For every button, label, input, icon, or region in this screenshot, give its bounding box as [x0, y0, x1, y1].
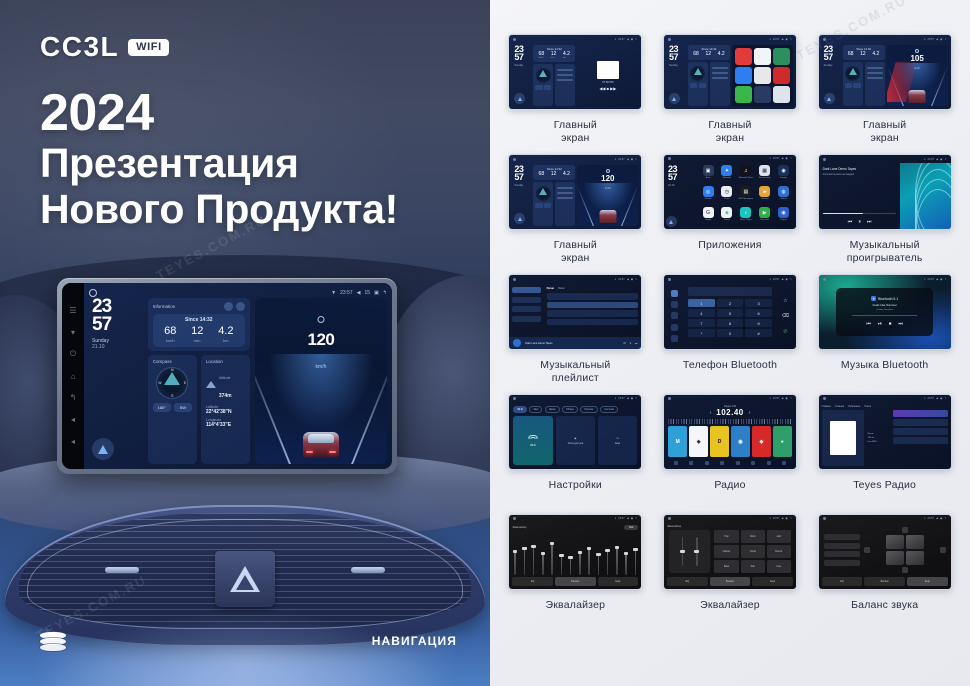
now-playing: Dark Lane Demo Tapes Хорошая музыка на к…	[819, 163, 901, 229]
tab-apps[interactable]: Прилож.	[580, 406, 597, 413]
list-item[interactable]	[547, 319, 639, 326]
next-station-icon[interactable]: ›	[749, 410, 751, 416]
eq-band[interactable]	[579, 551, 581, 575]
hud-icon	[915, 49, 919, 53]
sidebar-item-favorites	[512, 306, 540, 312]
card-wifi[interactable]: Wi-Fi	[513, 416, 552, 465]
tab-system[interactable]: Общие	[562, 406, 578, 413]
key-2[interactable]: 2	[717, 299, 744, 307]
tile-caption: Главныйэкран	[554, 119, 597, 145]
altitude-value: 374m	[219, 393, 232, 399]
preset-pop[interactable]: Pop	[714, 530, 738, 543]
key-1[interactable]: 1	[688, 299, 715, 307]
clock-date: 21.10	[92, 344, 144, 350]
radio-icon[interactable]: ◉	[778, 207, 789, 218]
tile-screenshot[interactable]: ▾23:57◀▣↰ Радио FM ‹ 102.40 › M ◈ D ◉ ◆	[663, 394, 797, 470]
list-item[interactable]	[893, 410, 948, 417]
expand-icon[interactable]	[236, 302, 245, 311]
navigation-button[interactable]	[514, 93, 525, 104]
tile-screenshot[interactable]: ▾23:57◀▣↰ 23 57 Sunday Since 14:32	[663, 34, 797, 110]
volume-down-icon[interactable]: ◂	[69, 415, 78, 424]
clock-minutes: 57	[92, 316, 144, 334]
compass-bearing-button[interactable]: 180°	[153, 403, 171, 412]
tab-more[interactable]: Ещё	[598, 577, 639, 586]
speed-widget[interactable]: 120 km/h	[255, 298, 387, 464]
balance-left-button[interactable]	[864, 547, 870, 553]
track-artist: Carbon Sunshine	[876, 309, 893, 311]
album-art	[513, 339, 521, 347]
album-art	[822, 410, 865, 466]
status-clock: 23:57	[340, 290, 353, 296]
playlist-sidebar[interactable]	[509, 283, 543, 337]
key-9[interactable]: 9	[745, 319, 772, 327]
balance-down-button[interactable]	[902, 567, 908, 573]
stat-distance: 4.2 km	[218, 326, 233, 343]
car-illustration	[599, 210, 616, 223]
speed-unit: km/h	[887, 67, 948, 70]
key-8[interactable]: 8	[717, 319, 744, 327]
eq-band[interactable]	[524, 547, 526, 575]
list-item[interactable]	[547, 293, 639, 300]
head-unit-hard-keys[interactable]: ☰ ▾ ⏻ ⌂ ↰ ◂ ◂	[62, 283, 84, 469]
previous-icon[interactable]: ⏮	[623, 342, 625, 345]
compass-widget[interactable]: Compass N E S W 180°	[148, 355, 197, 464]
settings-cards[interactable]: Wi-Fi ◉Точка доступа •••Ещё	[513, 416, 637, 465]
radio-frequency: 102.40	[716, 409, 743, 417]
hud-icon	[606, 169, 610, 173]
information-widget[interactable]: Information Since 14:32 68	[148, 298, 250, 351]
eq-band[interactable]	[514, 550, 516, 575]
air-vent-knob-right	[351, 567, 385, 573]
pause-icon[interactable]: ⏸	[858, 219, 861, 225]
head-unit-screen[interactable]: ▼ 23:57 ◀ 15 ▣ ↰ 23 57 Sunday 21.10	[84, 283, 392, 469]
page-title: 2024 Презентация Нового Продукта!	[40, 86, 398, 232]
phone-sidebar[interactable]	[664, 283, 685, 349]
tile-caption: Главныйэкран	[863, 119, 906, 145]
bluetooth-icon[interactable]: ✦	[721, 165, 732, 176]
tile-screenshot[interactable]: ▾23:57◀▣↰ Wi-Fi Звук Экран Общие Прилож.…	[508, 394, 642, 470]
tile-playlist[interactable]: ▾23:57◀▣↰ Песни Папки	[502, 274, 649, 394]
preset-6[interactable]: ●	[773, 426, 792, 457]
latitude-value: 22°42'38"N	[206, 409, 245, 415]
hero-panel: CC3L WIFI 2024 Презентация Нового Продук…	[0, 0, 490, 686]
usb-explorer-icon[interactable]: ▤	[740, 186, 751, 197]
eq-band[interactable]	[598, 553, 600, 575]
preset-4[interactable]: ◉	[731, 426, 750, 457]
speed-unit: km/h	[255, 364, 387, 370]
next-icon[interactable]: ⏭	[867, 219, 872, 225]
card-more[interactable]: •••Ещё	[598, 416, 637, 465]
brand-name: CC3L	[40, 33, 119, 61]
chrome-icon[interactable]: ◎	[703, 186, 714, 197]
key-3[interactable]: 3	[745, 299, 772, 307]
tile-screenshot[interactable]: ▾23:57◀▣↰ Главная Станции Избранное Поис…	[818, 394, 952, 470]
tab-eq[interactable]: EQ	[512, 577, 553, 586]
layers-icon	[40, 632, 66, 652]
eq-title: Эквалайзер	[512, 526, 526, 529]
track-title: Feels Like Summer	[873, 303, 897, 307]
bluetooth-music-icon[interactable]: ♫	[740, 165, 751, 176]
stat-time-unit: min	[191, 338, 203, 343]
tile-player[interactable]: ▾23:57◀▣↰ Dark Lane Demo Tapes Хорошая м…	[811, 154, 958, 274]
mini-clock-minutes: 57	[514, 53, 531, 61]
air-vent-knob-left	[105, 567, 139, 573]
progress-bar[interactable]	[852, 315, 916, 316]
navigation-button[interactable]	[824, 93, 835, 104]
preset-custom[interactable]: User	[767, 560, 791, 573]
navigation-button[interactable]	[669, 93, 680, 104]
wifi-icon	[528, 435, 537, 442]
location-widget[interactable]: Location Altitude 374m	[201, 355, 250, 464]
tile-bt-phone[interactable]: ▾23:57◀▣↰ 1 2 3 4 5	[657, 274, 804, 394]
location-title: Location	[206, 359, 245, 364]
brand-logo: CC3L WIFI	[40, 33, 169, 61]
stat-speed-value: 68	[164, 326, 176, 337]
compass-east: E	[184, 381, 186, 385]
eq-band[interactable]	[616, 546, 618, 575]
speaker-grid[interactable]	[886, 535, 924, 565]
music-player-icon[interactable]: ♪	[740, 207, 751, 218]
longitude-value: 114°4'33"E	[206, 422, 245, 428]
nav-footer-label: НАВИГАЦИЯ	[372, 634, 457, 648]
tile-screenshot[interactable]: ▾23:57◀▣↰	[818, 514, 952, 590]
preset-3[interactable]: D	[710, 426, 729, 457]
key-star[interactable]: *	[688, 329, 715, 337]
maps-icon[interactable]: ◈	[721, 207, 732, 218]
compass-dial	[536, 68, 551, 83]
track-title: Dark Lane Demo Tapes	[525, 342, 552, 345]
compass-direction-button[interactable]: SW	[174, 403, 192, 412]
band-icon	[674, 461, 678, 465]
tile-caption: Настройки	[549, 479, 602, 492]
favorite-icon[interactable]: ☆	[783, 298, 787, 304]
preset-bass[interactable]: Bass	[714, 560, 738, 573]
volume-value: 15	[365, 290, 371, 296]
rds-icon	[736, 461, 740, 465]
tab-home[interactable]: Главная	[822, 405, 831, 408]
key-7[interactable]: 7	[688, 319, 715, 327]
loc-icon	[751, 461, 755, 465]
headline-line1: Презентация	[40, 141, 398, 187]
ambient-glow	[0, 576, 490, 686]
next-icon[interactable]: ⏭	[635, 342, 637, 345]
tab-eq[interactable]: EQ	[822, 577, 863, 586]
eq-band-sliders[interactable]	[512, 530, 638, 575]
tile-eq-simple[interactable]: ▾23:57◀▣↰ Эквалайзер Pop Rock Jazz Class…	[657, 514, 804, 634]
tab-songs[interactable]: Песни	[547, 287, 554, 290]
key-6[interactable]: 6	[745, 309, 772, 317]
tile-apps[interactable]: ▾23:57◀▣↰ 23 57 21.10 ▣Авто ✦Bluetooth ♫…	[657, 154, 804, 274]
prev-station-icon[interactable]: ‹	[710, 410, 712, 416]
frequency-scale[interactable]	[668, 419, 792, 424]
preset-rear[interactable]	[824, 543, 861, 549]
screenshot-icon[interactable]: ▣	[374, 290, 379, 296]
eq-tabs[interactable]: EQ Баланс Ещё	[822, 577, 948, 586]
car-illustration	[909, 90, 926, 103]
search-icon	[689, 461, 693, 465]
tile-home-road-red[interactable]: ▾23:57◀▣↰ 23 57 Sunday Since 14:32	[811, 34, 958, 154]
menu-icon[interactable]: ☰	[69, 306, 78, 315]
tab-display[interactable]: Экран	[545, 406, 560, 413]
balance-right-button[interactable]	[940, 547, 946, 553]
settings-icon	[767, 461, 771, 465]
key-4[interactable]: 4	[688, 309, 715, 317]
previous-icon[interactable]: ⏮	[848, 219, 853, 225]
stat-time: 12 min	[191, 326, 203, 343]
tile-screenshot[interactable]: ▾23:57◀▣↰ Песни Папки	[508, 274, 642, 350]
mountain-icon	[206, 381, 216, 388]
visualizer	[900, 163, 950, 229]
tab-more[interactable]: Ещё	[752, 577, 793, 586]
tile-caption: Телефон Bluetooth	[683, 359, 777, 372]
refresh-icon[interactable]	[224, 302, 233, 311]
tab-more[interactable]: Ещё	[907, 577, 948, 586]
tile-caption: Музыка Bluetooth	[841, 359, 929, 372]
layers-button[interactable]	[40, 632, 66, 652]
playlist-list[interactable]: Песни Папки	[544, 283, 642, 337]
tile-teyes-radio[interactable]: ▾23:57◀▣↰ Главная Станции Избранное Поис…	[811, 394, 958, 514]
eq-faders[interactable]	[669, 530, 710, 573]
tile-screenshot[interactable]: ▾23:57◀▣↰ 23 57 21.10 ▣Авто ✦Bluetooth ♫…	[663, 154, 797, 230]
radio-toolbar[interactable]	[668, 459, 792, 466]
eq-band[interactable]	[588, 547, 590, 575]
tile-screenshot[interactable]: ▾23:57◀▣↰ ✦ Bluetooth 5.1 Feels Like Sum…	[818, 274, 952, 350]
camera-icon[interactable]: ◉	[778, 165, 789, 176]
eq-band[interactable]	[607, 549, 609, 575]
files-icon[interactable]: ◍	[778, 186, 789, 197]
media-controls[interactable]: ◀◀ ■ ▶▶	[599, 86, 616, 91]
headline-line2: Нового Продукта!	[40, 187, 398, 233]
apps-icon	[782, 461, 786, 465]
tab-about[interactable]: Система	[600, 406, 618, 413]
settings-tabs[interactable]: Wi-Fi Звук Экран Общие Прилож. Система	[513, 406, 637, 413]
app-grid[interactable]: ▣Авто ✦Bluetooth ♫Bluetooth Music ▦Кальк…	[696, 162, 796, 229]
station-meta: Поток192 кбLive MP3	[867, 410, 890, 466]
tile-caption: Радио	[714, 479, 745, 492]
balance-up-button[interactable]	[902, 527, 908, 533]
tile-settings[interactable]: ▾23:57◀▣↰ Wi-Fi Звук Экран Общие Прилож.…	[502, 394, 649, 514]
eq-band[interactable]	[635, 548, 637, 575]
speed-value: 105	[887, 55, 948, 63]
phone-number-field[interactable]	[688, 287, 772, 296]
balance-field[interactable]	[864, 527, 945, 573]
preset-rock[interactable]: Rock	[741, 530, 765, 543]
clock-icon[interactable]: ◷	[721, 186, 732, 197]
list-item[interactable]	[893, 419, 948, 426]
trip-since: Since 14:32	[157, 317, 241, 323]
tile-home-apps[interactable]: ▾23:57◀▣↰ 23 57 Sunday Since 14:32	[657, 34, 804, 154]
track-artist: Хорошая музыка на каждый	[823, 173, 897, 176]
list-item[interactable]	[547, 310, 639, 317]
tile-caption: Главныйэкран	[708, 119, 751, 145]
compass-south: S	[171, 394, 173, 398]
volume-up-icon[interactable]: ◂	[69, 437, 78, 446]
settings-icon	[671, 335, 678, 342]
back-button[interactable]	[666, 216, 677, 227]
preset-left[interactable]	[824, 551, 861, 557]
google-icon[interactable]: G	[703, 207, 714, 218]
list-icon	[705, 461, 709, 465]
tile-eq-sliders[interactable]: ▾23:57◀▣↰ Эквалайзер Flat	[502, 514, 649, 634]
sidebar-item-songs	[512, 287, 540, 293]
calculator-icon[interactable]: ▦	[759, 165, 770, 176]
tile-screenshot[interactable]: ▾23:57◀▣↰ 23 57 Sunday Since 14:32	[818, 34, 952, 110]
hotspot-icon: ◉	[574, 437, 576, 440]
pause-icon[interactable]: ⏸	[630, 342, 631, 345]
tab-balance[interactable]: Баланс	[864, 577, 905, 586]
tile-screenshot[interactable]: ▾23:57◀▣↰ 23 57 Sunday Since 14:32	[508, 154, 642, 230]
speed-unit: km/h	[577, 187, 638, 190]
stat-distance-unit: km	[218, 338, 233, 343]
power-icon[interactable]: ⏻	[69, 350, 78, 359]
previous-icon[interactable]: ⏮	[866, 321, 871, 327]
eq-band[interactable]	[625, 552, 627, 575]
eq-tabs[interactable]: EQ Баланс Ещё	[667, 577, 793, 586]
track-title: Dark Lane Demo Tapes	[823, 167, 897, 171]
card-hotspot[interactable]: ◉Точка доступа	[556, 416, 595, 465]
list-item[interactable]	[547, 302, 639, 309]
altitude-label: Altitude	[219, 376, 231, 380]
call-icon[interactable]: ✆	[783, 329, 787, 335]
tile-caption: Баланс звука	[851, 599, 918, 612]
wifi-icon[interactable]: ▾	[69, 328, 78, 337]
bluetooth-icon: ✦	[871, 296, 876, 301]
preset-vocal[interactable]: Vocal	[741, 545, 765, 558]
mini-clock-day: Sunday	[514, 64, 531, 67]
tile-screenshot[interactable]: ▾23:57◀▣↰ Dark Lane Demo Tapes Хорошая м…	[818, 154, 952, 230]
teyes-radio-tabs[interactable]: Главная Станции Избранное Поиск	[822, 405, 948, 408]
tile-radio[interactable]: ▾23:57◀▣↰ Радио FM ‹ 102.40 › M ◈ D ◉ ◆	[657, 394, 804, 514]
tab-balance[interactable]: Баланс	[710, 577, 751, 586]
tab-sound[interactable]: Звук	[529, 406, 542, 413]
volume-icon: ◀	[357, 290, 361, 296]
preset-1[interactable]: M	[668, 426, 687, 457]
eq-band[interactable]	[570, 556, 572, 575]
stop-icon[interactable]: ⏹	[889, 321, 892, 327]
station-list[interactable]	[893, 410, 948, 466]
tile-balance[interactable]: ▾23:57◀▣↰	[811, 514, 958, 634]
progress-bar[interactable]	[823, 213, 897, 214]
tab-wifi[interactable]: Wi-Fi	[513, 406, 527, 413]
preset-right[interactable]	[824, 560, 861, 566]
screenshot-gallery: ▾23:57◀▣↰ 23 57 Sunday Since 14:32	[490, 0, 970, 686]
tile-caption: Главныйэкран	[554, 239, 597, 265]
preset-front[interactable]	[824, 534, 861, 540]
mini-player-bar[interactable]: Dark Lane Demo Tapes ⏮ ⏸ ⏭	[509, 337, 641, 349]
tile-caption: Эквалайзер	[546, 599, 606, 612]
tile-home-road[interactable]: ▾23:57◀▣↰ 23 57 Sunday Since 14:32	[502, 154, 649, 274]
tab-folders[interactable]: Папки	[558, 287, 565, 290]
speed-value: 120	[255, 331, 387, 348]
eq-preset-grid[interactable]: Pop Rock Jazz Classic Vocal Dance Bass F…	[714, 530, 791, 573]
phone-actions[interactable]: ☆ ⌫ ✆	[775, 283, 796, 349]
preset-flat[interactable]: Flat	[741, 560, 765, 573]
tile-caption: Teyes Радио	[853, 479, 916, 492]
navigation-arrow-icon	[98, 445, 108, 454]
information-title: Information	[153, 304, 176, 309]
stat-distance-value: 4.2	[218, 326, 233, 337]
media-controls[interactable]: ⏮ ⏯ ⏹ ⏭	[866, 321, 903, 327]
preset-2[interactable]: ◈	[689, 426, 708, 457]
navigation-button[interactable]	[92, 438, 114, 460]
car-illustration	[303, 424, 339, 458]
play-store-icon[interactable]: ▶	[759, 207, 770, 218]
tab-stations[interactable]: Станции	[835, 405, 844, 408]
gallery-icon[interactable]: ▰	[759, 186, 770, 197]
tab-eq[interactable]: EQ	[667, 577, 708, 586]
speed-widget[interactable]: 120 km/h	[577, 165, 638, 226]
track-time: 07:50 PM	[602, 81, 613, 84]
tab-favorites[interactable]: Избранное	[848, 405, 860, 408]
tile-home-media[interactable]: ▾23:57◀▣↰ 23 57 Sunday Since 14:32	[502, 34, 649, 154]
eq-band[interactable]	[533, 545, 535, 575]
next-icon[interactable]: ⏭	[898, 321, 903, 327]
preset-jazz[interactable]: Jazz	[767, 530, 791, 543]
key-0[interactable]: 0	[717, 329, 744, 337]
tile-screenshot[interactable]: ▾23:57◀▣↰ Эквалайзер Pop Rock Jazz Class…	[663, 514, 797, 590]
eq-band[interactable]	[542, 552, 544, 575]
tab-search[interactable]: Поиск	[864, 405, 871, 408]
bt-version: Bluetooth 5.1	[878, 297, 898, 301]
compass-title: Compass	[153, 359, 192, 364]
preset-5[interactable]: ◆	[752, 426, 771, 457]
stat-speed-unit: km/h	[164, 338, 176, 343]
call-log-icon	[671, 324, 678, 331]
tile-bt-music[interactable]: ▾23:57◀▣↰ ✦ Bluetooth 5.1 Feels Like Sum…	[811, 274, 958, 394]
back-arrow-icon[interactable]: ↰	[383, 290, 387, 296]
list-item[interactable]	[893, 428, 948, 435]
hud-icon	[317, 316, 324, 323]
station-presets[interactable]: M ◈ D ◉ ◆ ●	[668, 426, 792, 457]
back-icon[interactable]: ↰	[69, 393, 78, 402]
tile-caption: Музыкальныйплейлист	[540, 359, 610, 385]
eq-band[interactable]	[561, 554, 563, 575]
tile-screenshot[interactable]: ▾23:57◀▣↰ 1 2 3 4 5	[663, 274, 797, 350]
preset-classic[interactable]: Classic	[714, 545, 738, 558]
eq-icon	[720, 461, 724, 465]
compass-north: N	[171, 368, 174, 372]
search-icon	[671, 312, 678, 319]
dialpad[interactable]: 1 2 3 4 5 6 7 8 9 * 0 #	[688, 299, 772, 337]
balance-presets[interactable]	[824, 527, 861, 573]
tile-screenshot[interactable]: ▾23:57◀▣↰ Эквалайзер Flat	[508, 514, 642, 590]
wifi-badge: WIFI	[128, 39, 169, 56]
key-5[interactable]: 5	[717, 309, 744, 317]
list-item[interactable]	[893, 437, 948, 444]
stat-time-value: 12	[191, 326, 203, 337]
backspace-icon[interactable]: ⌫	[782, 313, 789, 319]
app-rail[interactable]	[732, 45, 793, 106]
navigation-button[interactable]	[514, 213, 525, 224]
tab-balance[interactable]: Баланс	[555, 577, 596, 586]
tile-screenshot[interactable]: ▾23:57◀▣↰ 23 57 Sunday Since 14:32	[508, 34, 642, 110]
auto-icon[interactable]: ▣	[703, 165, 714, 176]
home-icon[interactable]: ⌂	[69, 372, 78, 381]
eq-tabs[interactable]: EQ Баланс Ещё	[512, 577, 638, 586]
play-pause-icon[interactable]: ⏯	[878, 321, 882, 327]
head-unit-device: ☰ ▾ ⏻ ⌂ ↰ ◂ ◂ ▼ 23:57 ◀ 15 ▣ ↰	[57, 278, 397, 474]
clock-widget: 23 57 21.10	[664, 162, 696, 229]
key-hash[interactable]: #	[745, 329, 772, 337]
eq-band[interactable]	[551, 542, 553, 575]
preset-dance[interactable]: Dance	[767, 545, 791, 558]
media-controls[interactable]: ⏮ ⏸ ⏭	[823, 219, 897, 225]
clock-widget[interactable]: 23 57 Sunday 21.10	[89, 298, 144, 464]
wifi-icon: ▼	[331, 290, 336, 296]
sidebar-item-all	[512, 297, 540, 303]
dialpad-icon	[671, 290, 678, 297]
speed-widget[interactable]: 105 km/h	[887, 45, 948, 106]
